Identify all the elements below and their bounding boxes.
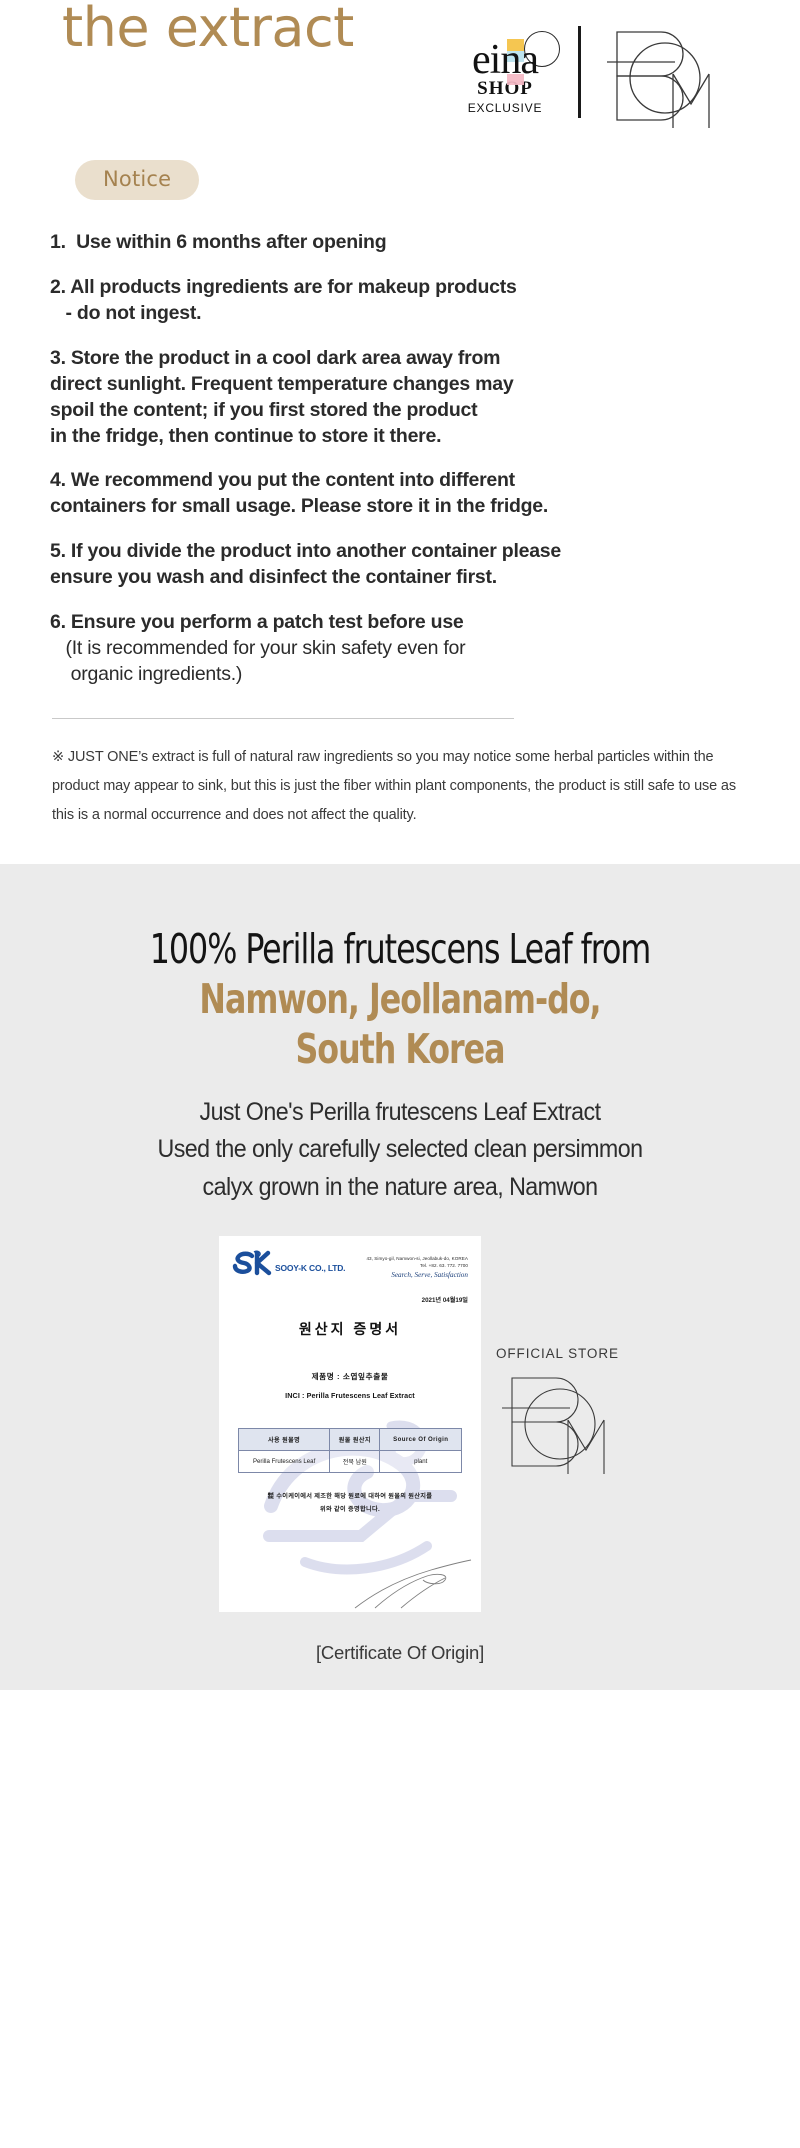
certificate-address-line1: 43, Simyo-gil, Namwon-si, Jeollabuk-do, …: [366, 1256, 468, 1263]
certificate-body: SOOY-K CO., LTD. 43, Simyo-gil, Namwon-s…: [219, 1236, 481, 1516]
eina-shop-logo: eina SHOP EXCLUSIVE: [440, 37, 570, 115]
table-cell: Perilla Frutescens Leaf: [239, 1451, 330, 1473]
brand-header: the extract eina SHOP EXCLUSIVE: [0, 0, 800, 160]
origin-subtext-line1: Just One's Perilla frutescens Leaf Extra…: [28, 1094, 772, 1132]
certificate-date: 2021년 04월19일: [232, 1295, 468, 1304]
table-header-cell: Source Of Origin: [380, 1429, 462, 1451]
table-cell: plant: [380, 1451, 462, 1473]
table-header-cell: 사용 원물명: [239, 1429, 330, 1451]
origin-heading: 100% Perilla frutescens Leaf from Namwon…: [56, 924, 744, 1074]
notice-line: 5. If you divide the product into anothe…: [50, 539, 764, 565]
eina-wordmark-text: eina: [472, 37, 538, 83]
certificate-address-line2: Tel. +82. 63. 772. 7700: [366, 1263, 468, 1270]
certificate-company: SOOY-K CO., LTD.: [275, 1263, 345, 1276]
notice-line: - do not ingest.: [50, 301, 764, 327]
certificate-signature-icon: [353, 1558, 473, 1610]
certificate-product-name: 제품명 : 소엽잎추출물: [232, 1371, 468, 1382]
product-detail-page: the extract eina SHOP EXCLUSIVE: [0, 0, 800, 2148]
table-row: Perilla Frutescens Leaf 전북 남원 plant: [239, 1451, 462, 1473]
origin-subtext: Just One's Perilla frutescens Leaf Extra…: [28, 1094, 772, 1207]
origin-subtext-line3: calyx grown in the nature area, Namwon: [28, 1169, 772, 1207]
certificate-address: 43, Simyo-gil, Namwon-si, Jeollabuk-do, …: [366, 1250, 468, 1279]
list-item: 1. Use within 6 months after opening: [50, 230, 764, 256]
eina-wordmark: eina: [472, 41, 538, 81]
origin-section: 100% Perilla frutescens Leaf from Namwon…: [0, 864, 800, 1691]
certificate-document: SOOY-K CO., LTD. 43, Simyo-gil, Namwon-s…: [219, 1236, 481, 1612]
notice-line: organic ingredients.): [50, 662, 764, 688]
table-cell: 전북 남원: [330, 1451, 380, 1473]
list-item: 3. Store the product in a cool dark area…: [50, 346, 764, 450]
divider: [52, 718, 514, 719]
certificate-slogan: Search, Serve, Satisfaction: [366, 1271, 468, 1279]
notice-line: in the fridge, then continue to store it…: [50, 424, 764, 450]
certificate-statement-line2: 위와 같이 증명합니다.: [232, 1503, 468, 1516]
origin-heading-line1: 100% Perilla frutescens Leaf from: [56, 924, 744, 974]
notice-section: the extract eina SHOP EXCLUSIVE: [0, 0, 800, 864]
certificate-statement: ㍿ 수이케이에서 제조한 해당 원료에 대하여 원물의 원산지를 위와 같이 증…: [232, 1490, 468, 1516]
certificate-title: 원산지 증명서: [232, 1319, 468, 1339]
certificate-inci: INCI : Perilla Frutescens Leaf Extract: [232, 1391, 468, 1400]
notice-line: containers for small usage. Please store…: [50, 494, 764, 520]
table-header-row: 사용 원물명 원물 원산지 Source Of Origin: [239, 1429, 462, 1451]
notice-line: 6. Ensure you perform a patch test befor…: [50, 610, 764, 636]
certificate-table: 사용 원물명 원물 원산지 Source Of Origin Perilla F…: [238, 1428, 462, 1473]
origin-heading-line2: Namwon, Jeollanam-do,: [56, 974, 744, 1024]
origin-heading-line3: South Korea: [56, 1024, 744, 1074]
list-item: 5. If you divide the product into anothe…: [50, 539, 764, 591]
logo-cluster: eina SHOP EXCLUSIVE: [440, 22, 723, 130]
list-item: 2. All products ingredients are for make…: [50, 275, 764, 327]
notice-line: 2. All products ingredients are for make…: [50, 275, 764, 301]
certificate-header: SOOY-K CO., LTD. 43, Simyo-gil, Namwon-s…: [232, 1250, 468, 1279]
notice-badge: Notice: [75, 160, 199, 200]
origin-subtext-line2: Used the only carefully selected clean p…: [28, 1131, 772, 1169]
notice-line: 4. We recommend you put the content into…: [50, 468, 764, 494]
list-item: 4. We recommend you put the content into…: [50, 468, 764, 520]
certificate-statement-line1: ㍿ 수이케이에서 제조한 해당 원료에 대하여 원물의 원산지를: [232, 1490, 468, 1503]
certificate-area: SOOY-K CO., LTD. 43, Simyo-gil, Namwon-s…: [0, 1236, 800, 1620]
notice-line: spoil the content; if you first stored t…: [50, 398, 764, 424]
notice-line: ensure you wash and disinfect the contai…: [50, 565, 764, 591]
notice-line: direct sunlight. Frequent temperature ch…: [50, 372, 764, 398]
bom-logo-icon: [498, 1367, 618, 1477]
notice-list: 1. Use within 6 months after opening 2. …: [0, 230, 800, 688]
logo-divider: [578, 26, 581, 118]
notice-footnote: ※ JUST ONE’s extract is full of natural …: [0, 743, 800, 830]
table-header-cell: 원물 원산지: [330, 1429, 380, 1451]
official-store-block: OFFICIAL STORE: [496, 1346, 686, 1477]
certificate-caption: [Certificate Of Origin]: [0, 1642, 800, 1664]
bom-logo-icon: [603, 22, 723, 130]
notice-line: (It is recommended for your skin safety …: [50, 636, 764, 662]
page-title: the extract: [62, 0, 354, 57]
list-item: 6. Ensure you perform a patch test befor…: [50, 610, 764, 688]
sooyk-logo-icon: SOOY-K CO., LTD.: [232, 1250, 345, 1276]
notice-line: 3. Store the product in a cool dark area…: [50, 346, 764, 372]
notice-line: 1. Use within 6 months after opening: [50, 230, 764, 256]
official-store-label: OFFICIAL STORE: [496, 1346, 686, 1361]
eina-exclusive-text: EXCLUSIVE: [440, 101, 570, 115]
